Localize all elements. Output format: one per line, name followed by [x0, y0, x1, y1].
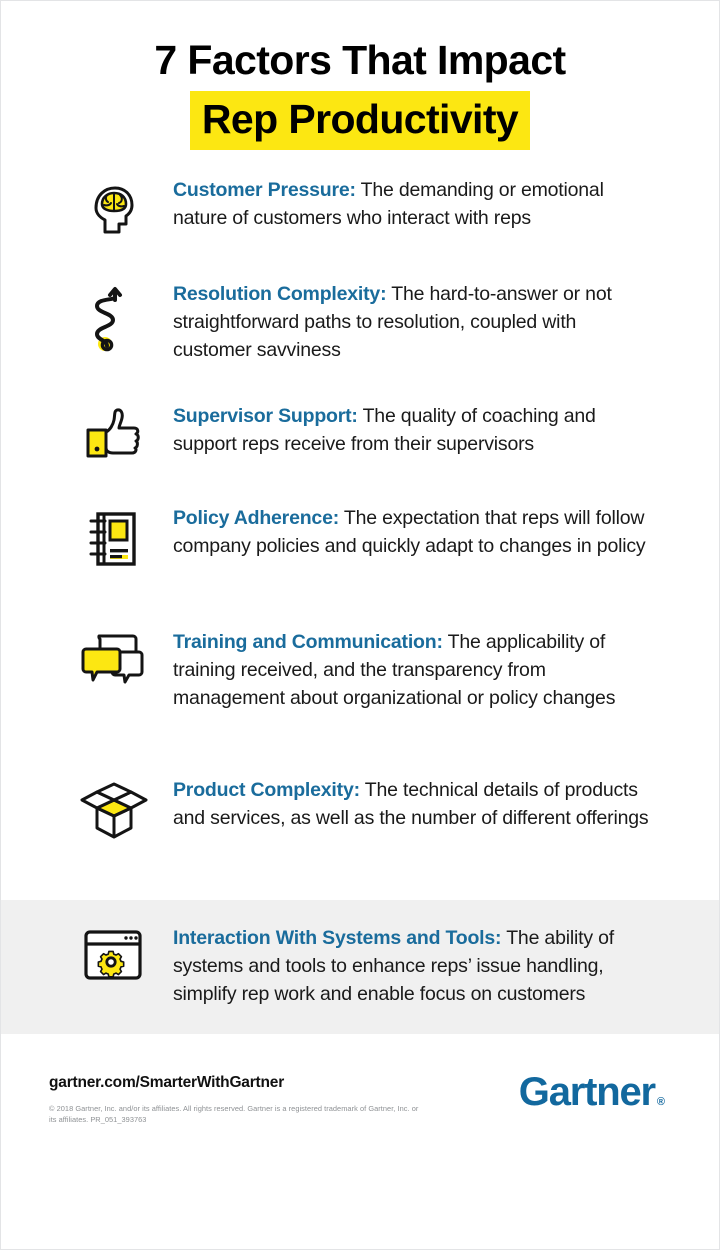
gartner-logo-text: Gartner [519, 1070, 655, 1115]
registered-trademark-icon: ® [657, 1096, 665, 1108]
footer-left: gartner.com/SmarterWithGartner © 2018 Ga… [49, 1070, 419, 1125]
notebook-icon [79, 504, 149, 570]
list-item-text: Customer Pressure: The demanding or emot… [149, 176, 659, 232]
footer-url-link[interactable]: gartner.com/SmarterWithGartner [49, 1074, 419, 1092]
list-item-label: Product Complexity: [173, 779, 360, 801]
speech-bubbles-icon [79, 628, 149, 688]
list-item-label: Resolution Complexity: [173, 283, 386, 305]
copyright-text: © 2018 Gartner, Inc. and/or its affiliat… [49, 1104, 419, 1125]
list-item-label: Supervisor Support: [173, 405, 358, 427]
page-title: 7 Factors That Impact Rep Productivity [1, 1, 719, 150]
gartner-logo: Gartner ® [519, 1070, 671, 1115]
list-item: Policy Adherence: The expectation that r… [1, 504, 719, 614]
thumbs-up-icon [79, 402, 149, 464]
list-item-text: Training and Communication: The applicab… [149, 628, 659, 712]
head-brain-icon [79, 176, 149, 242]
winding-path-arrow-icon [79, 280, 149, 354]
browser-gear-icon [79, 924, 149, 986]
list-item: Resolution Complexity: The hard-to-answe… [1, 280, 719, 390]
open-box-icon [79, 776, 149, 842]
list-item-label: Policy Adherence: [173, 507, 339, 529]
list-item: Training and Communication: The applicab… [1, 628, 719, 766]
list-item: Customer Pressure: The demanding or emot… [1, 176, 719, 266]
title-line-1: 7 Factors That Impact [1, 37, 719, 84]
list-item-text: Product Complexity: The technical detail… [149, 776, 659, 832]
list-item: Product Complexity: The technical detail… [1, 776, 719, 886]
list-item-text: Supervisor Support: The quality of coach… [149, 402, 659, 458]
title-line-2-highlighted: Rep Productivity [190, 91, 530, 150]
footer: gartner.com/SmarterWithGartner © 2018 Ga… [1, 1034, 719, 1125]
list-item-text: Policy Adherence: The expectation that r… [149, 504, 659, 560]
list-item-label: Interaction With Systems and Tools: [173, 927, 501, 949]
list-item-text: Resolution Complexity: The hard-to-answe… [149, 280, 659, 364]
infographic-page: 7 Factors That Impact Rep Productivity C… [0, 0, 720, 1250]
highlighted-factor-band: Interaction With Systems and Tools: The … [1, 900, 719, 1034]
list-item-label: Training and Communication: [173, 631, 443, 653]
list-item-label: Customer Pressure: [173, 179, 356, 201]
factors-list: Customer Pressure: The demanding or emot… [1, 176, 719, 886]
list-item: Supervisor Support: The quality of coach… [1, 402, 719, 490]
list-item-text: Interaction With Systems and Tools: The … [149, 924, 659, 1008]
title-line-2-wrapper: Rep Productivity [1, 91, 719, 150]
list-item: Interaction With Systems and Tools: The … [1, 924, 719, 1008]
